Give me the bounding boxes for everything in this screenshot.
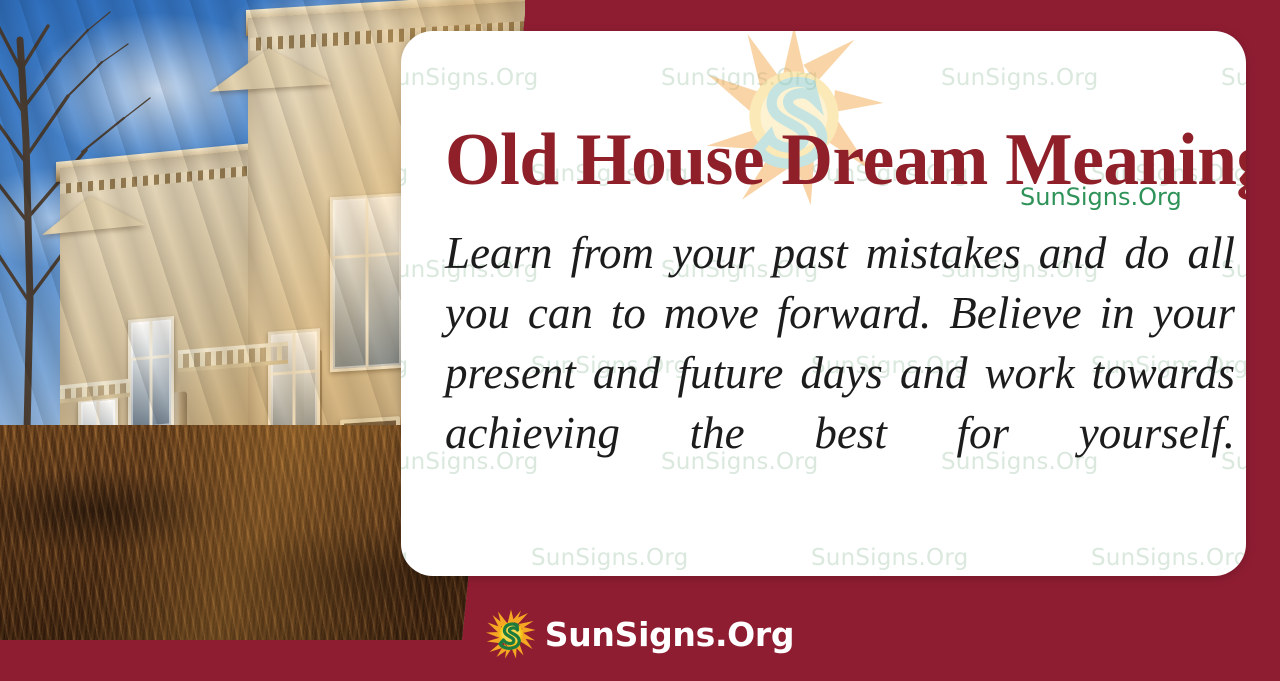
content-card: SunSigns.OrgSunSigns.OrgSunSigns.OrgSunS…: [401, 31, 1246, 576]
sunsigns-logo-icon: [486, 609, 536, 659]
footer-brand-text: SunSigns.Org: [545, 615, 794, 654]
facade-window: [330, 193, 404, 373]
facade-window: [128, 316, 174, 432]
main-pediment: [207, 44, 333, 91]
footer-brand[interactable]: SunSigns.Org: [0, 609, 1280, 659]
card-content: Old House Dream Meaning Learn from your …: [401, 31, 1246, 576]
title-watermark: SunSigns.Org: [1020, 183, 1182, 211]
dream-meaning-text: Learn from your past mistakes and do all…: [445, 223, 1235, 523]
infographic-canvas: SunSigns.OrgSunSigns.OrgSunSigns.OrgSunS…: [0, 0, 1280, 681]
